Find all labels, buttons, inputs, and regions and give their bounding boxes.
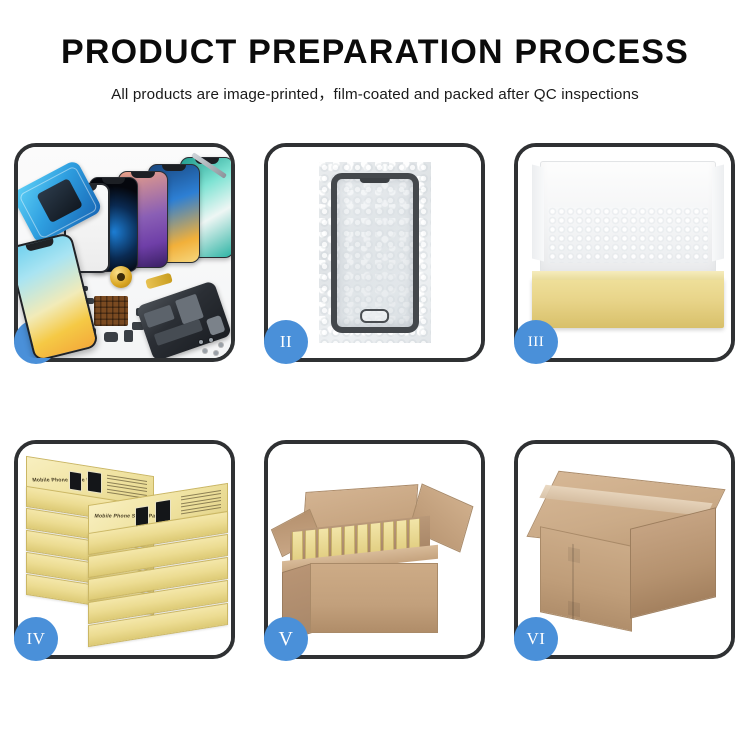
carton-front-face bbox=[310, 563, 438, 633]
process-step-4: Mobile Phone Spare Parts bbox=[14, 440, 235, 659]
carton-tab bbox=[568, 601, 580, 618]
phone-screen bbox=[331, 173, 419, 333]
screws bbox=[197, 338, 227, 356]
box-stack: Mobile Phone Spare Parts bbox=[26, 460, 231, 650]
box-label: Mobile Phone Spare Parts bbox=[94, 514, 163, 520]
small-part bbox=[124, 330, 133, 342]
chip-grid bbox=[94, 296, 128, 326]
phone-parts-scene bbox=[18, 147, 231, 358]
process-steps-grid: I II bbox=[14, 143, 736, 659]
box-thumbnail bbox=[87, 471, 102, 494]
step-badge-4: IV bbox=[14, 617, 58, 661]
box-thumbnail bbox=[69, 471, 82, 492]
page-subtitle: All products are image-printed，film-coat… bbox=[0, 82, 750, 104]
process-step-5: V bbox=[264, 440, 485, 659]
small-part bbox=[104, 332, 118, 342]
process-step-3: III bbox=[514, 143, 735, 362]
page-title: PRODUCT PREPARATION PROCESS bbox=[0, 34, 750, 71]
product-preparation-infographic: PRODUCT PREPARATION PROCESS All products… bbox=[0, 0, 750, 750]
step-badge-3: III bbox=[514, 320, 558, 364]
header: PRODUCT PREPARATION PROCESS All products… bbox=[0, 0, 750, 104]
step-1-image bbox=[18, 147, 231, 358]
process-step-2: II bbox=[264, 143, 485, 362]
box-tray bbox=[532, 278, 724, 328]
carton-tab bbox=[568, 547, 580, 564]
speaker-module bbox=[110, 266, 132, 288]
bubble-wrap-film bbox=[319, 162, 431, 343]
step-badge-2: II bbox=[264, 320, 308, 364]
process-step-6: VI bbox=[514, 440, 735, 659]
carton-front-face bbox=[540, 526, 632, 632]
process-step-1: I bbox=[14, 143, 235, 362]
step-badge-6: VI bbox=[514, 617, 558, 661]
foam-liner bbox=[548, 207, 708, 263]
gold-flex-cable bbox=[145, 273, 173, 290]
step-badge-5: V bbox=[264, 617, 308, 661]
